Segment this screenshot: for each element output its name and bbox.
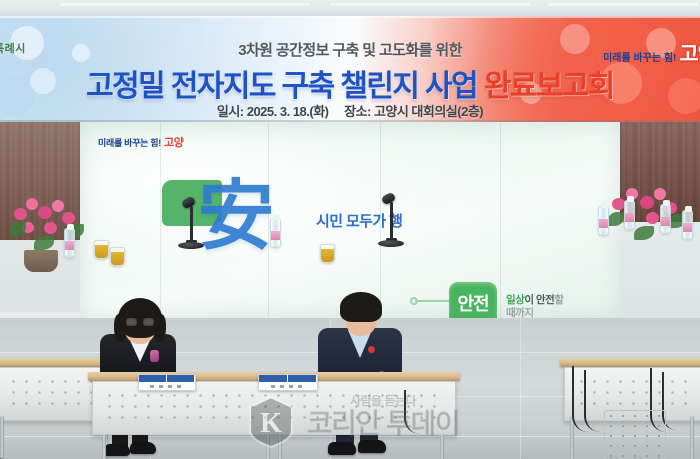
plant-pot-left [24, 250, 58, 272]
water-bottle [270, 218, 281, 248]
water-bottle [64, 228, 75, 258]
stage-backdrop: 미래를 바꾸는 힘! 고양 安 시민 모두가 행 [80, 122, 620, 318]
watermark-tagline: 사람을 듣는다 [298, 392, 468, 409]
backdrop-slogan-small: 미래를 바꾸는 힘! [98, 136, 161, 149]
photo-canvas: 특례시 미래를 바꾸는 힘! 고양 3차원 공간정보 구축 및 고도화를 위한 … [0, 0, 700, 459]
caption-particle: 이 [524, 294, 533, 306]
backdrop-connector-line [415, 300, 451, 302]
backdrop-slogan-brand: 고양 [164, 134, 183, 150]
watermark-text: 사람을 듣는다 코리안 투데이 [298, 392, 468, 439]
banner-info-line: 일시: 2025. 3. 18.(화) 장소: 고양시 대회의실(2층) [0, 101, 700, 120]
caption-tail: 할 [554, 294, 563, 306]
banner-title: 고정밀 전자지도 구축 챌린지 사업 완료보고회 [0, 61, 700, 105]
flower-arrangement-right [606, 184, 690, 240]
man-lapel-pin [368, 346, 375, 353]
woman-lapel-badge [150, 350, 159, 362]
nameplate-man [258, 374, 318, 391]
flower-arrangement-left [10, 192, 90, 252]
banner-subtitle: 3차원 공간정보 구축 및 고도화를 위한 [0, 39, 700, 60]
watermark-brand: 코리안 투데이 [298, 409, 468, 439]
woman-glasses [126, 318, 154, 326]
banner-place: 장소: 고양시 대회의실(2층) [344, 104, 483, 119]
svg-text:K: K [260, 408, 282, 439]
woman-shoe [130, 442, 156, 454]
backdrop-slogan: 미래를 바꾸는 힘! 고양 [98, 134, 183, 150]
woman-shoe [104, 444, 130, 456]
water-bottle [624, 200, 635, 230]
banner-title-main: 고정밀 전자지도 구축 챌린지 사업 [86, 70, 477, 103]
banner-date: 일시: 2025. 3. 18.(화) [217, 104, 329, 119]
paper-cup [94, 240, 109, 259]
ceiling-rail [548, 3, 698, 6]
water-bottle [682, 210, 693, 240]
caption-keyword: 안전 [536, 294, 554, 306]
korean-today-logo-icon: K [248, 396, 294, 448]
backdrop-hanja: 安 [198, 178, 274, 254]
banner-top-edge [0, 16, 700, 18]
water-bottle [598, 206, 609, 236]
ceiling-rail [330, 3, 530, 6]
backdrop-caption-safety: 일상이 안전할 때까지 [506, 294, 563, 320]
man-hair [340, 292, 382, 322]
cable [584, 370, 600, 432]
event-banner: 특례시 미래를 바꾸는 힘! 고양 3차원 공간정보 구축 및 고도화를 위한 … [0, 16, 700, 122]
caption-highlight: 일상 [506, 294, 524, 306]
nameplate-woman [138, 374, 196, 391]
watermark: K 사람을 듣는다 코리안 투데이 [248, 392, 468, 454]
paper-cup [110, 247, 125, 266]
water-bottle [660, 204, 671, 234]
banner-title-accent: 완료보고회 [484, 70, 614, 103]
ceiling-rail [60, 3, 310, 6]
paper-cup [320, 244, 335, 263]
